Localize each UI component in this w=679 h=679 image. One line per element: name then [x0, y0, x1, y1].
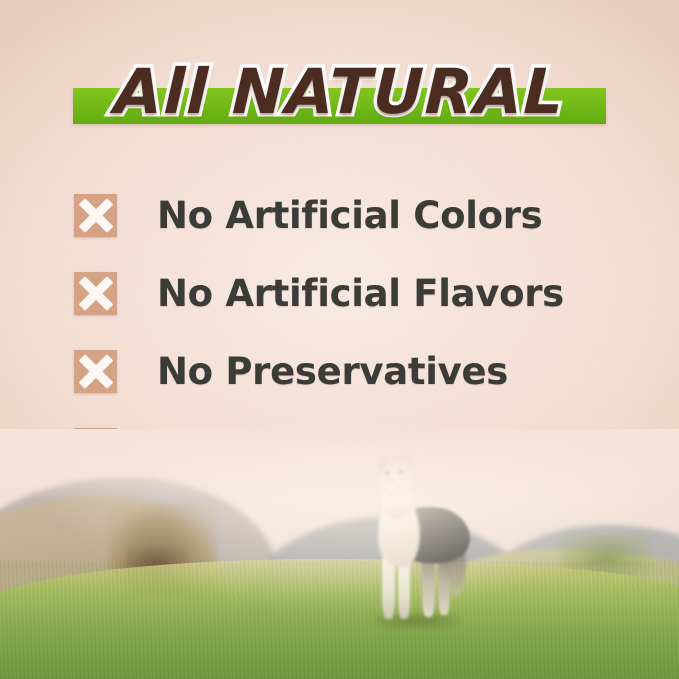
- product-banner: All NATURAL No Artificial Colors No Arti…: [0, 0, 679, 679]
- x-mark-icon: [74, 350, 117, 393]
- dog-eye-left: [385, 471, 390, 475]
- x-mark-icon: [74, 272, 117, 315]
- claim-row: No Preservatives: [74, 332, 639, 410]
- claim-row: No Artificial Colors: [74, 176, 639, 254]
- headline-banner: All NATURAL: [0, 52, 679, 132]
- dog-hind-leg-left: [422, 555, 435, 617]
- claim-label: No Preservatives: [157, 353, 508, 390]
- dog-muzzle: [382, 479, 400, 495]
- x-mark-icon: [74, 194, 117, 237]
- dog-eye-right: [398, 470, 403, 474]
- grass-texture: [0, 561, 679, 679]
- claim-label: No Artificial Flavors: [157, 275, 564, 312]
- dog: [360, 449, 480, 629]
- landscape-photo: [0, 429, 679, 679]
- claim-row: No Artificial Flavors: [74, 254, 639, 332]
- claim-label: No Artificial Colors: [157, 197, 542, 234]
- headline-title: All NATURAL: [0, 52, 679, 132]
